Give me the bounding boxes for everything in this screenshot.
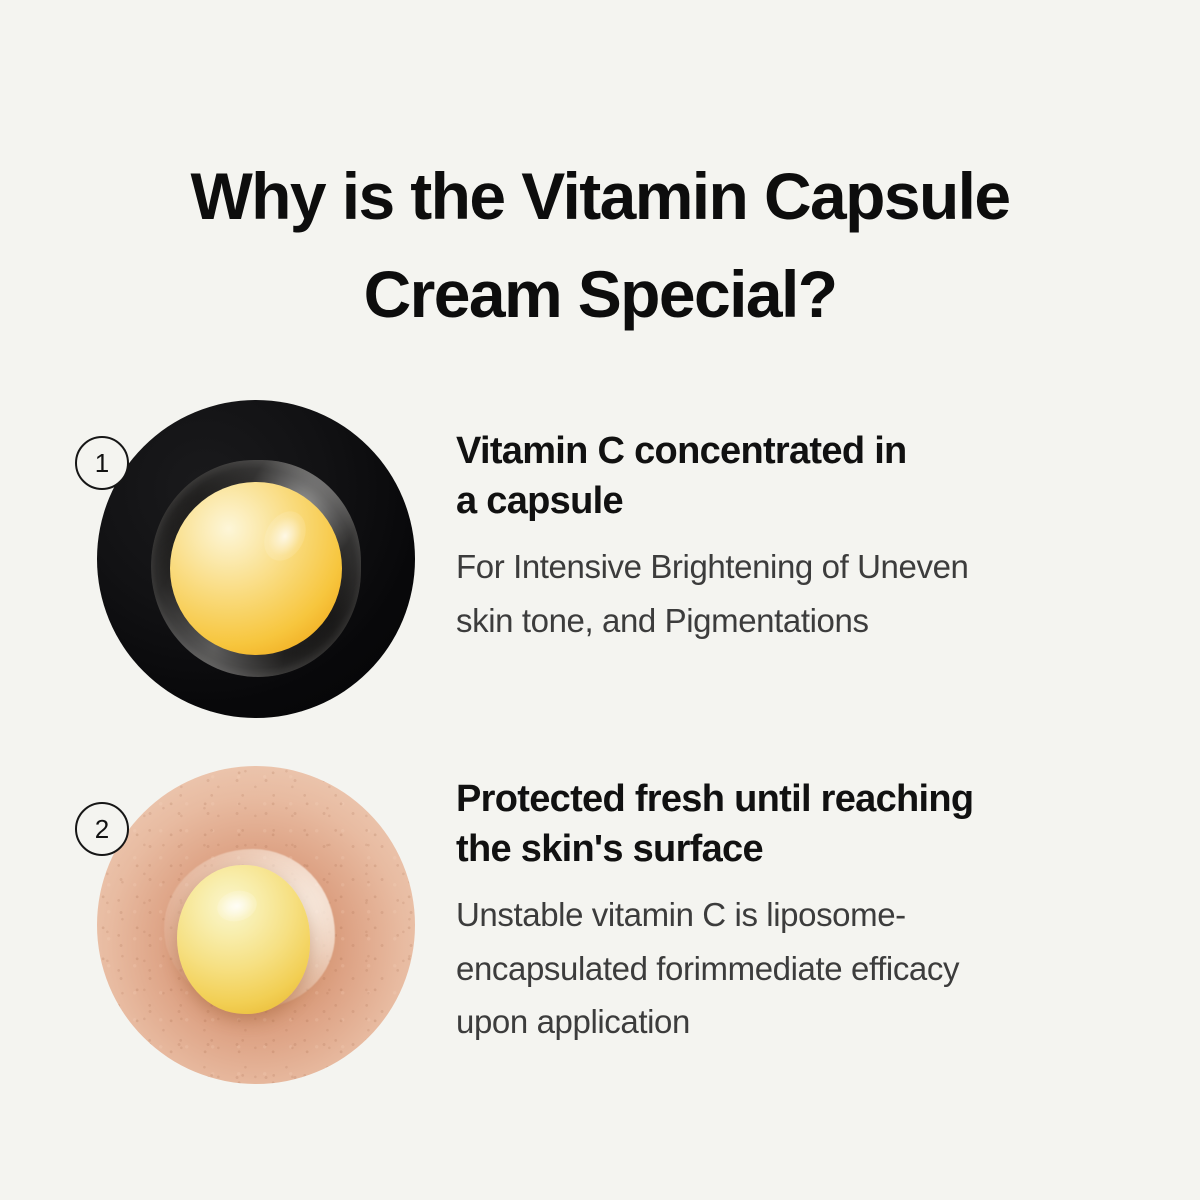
page-title-line-1: Why is the Vitamin Capsule [60, 148, 1140, 246]
page-title-line-2: Cream Special? [60, 246, 1140, 344]
feature-2-desc-line-2: encapsulated forimmediate efficacy [456, 950, 959, 987]
capsule-shell-graphic [151, 460, 361, 676]
feature-1-description: For Intensive Brightening of Uneven skin… [456, 540, 1136, 647]
vitamin-capsule-on-black-photo [97, 400, 415, 718]
feature-1-desc-line-1: For Intensive Brightening of Uneven [456, 548, 968, 585]
step-badge-2: 2 [75, 802, 129, 856]
feature-1-text: Vitamin C concentrated in a capsule For … [456, 426, 1136, 647]
feature-2-title-line-2: the skin's surface [456, 828, 763, 870]
feature-2-title-line-1: Protected fresh until reaching [456, 778, 973, 820]
feature-block-1: 1 Vitamin C concentrated in a capsule Fo… [0, 390, 1200, 730]
page-title: Why is the Vitamin Capsule Cream Special… [60, 148, 1140, 343]
feature-2-text: Protected fresh until reaching the skin'… [456, 774, 1136, 1049]
step-badge-2-number: 2 [95, 816, 109, 842]
feature-2-media: 2 [97, 766, 415, 1084]
capsule-bursting-on-skin-photo [97, 766, 415, 1084]
feature-block-2: 2 Protected fresh until reaching the ski… [0, 756, 1200, 1096]
step-badge-1: 1 [75, 436, 129, 490]
feature-1-title-line-1: Vitamin C concentrated in [456, 430, 907, 472]
feature-1-title-line-2: a capsule [456, 480, 623, 522]
vitamin-capsule-cream-infographic: { "theme": { "background": "#f4f4f0", "h… [0, 0, 1200, 1200]
feature-1-media: 1 [97, 400, 415, 718]
feature-2-desc-line-1: Unstable vitamin C is liposome- [456, 896, 906, 933]
feature-2-desc-line-3: upon application [456, 1003, 690, 1040]
feature-1-desc-line-2: skin tone, and Pigmentations [456, 602, 869, 639]
feature-2-title: Protected fresh until reaching the skin'… [456, 774, 1136, 874]
capsule-core-graphic [170, 482, 342, 655]
step-badge-1-number: 1 [95, 450, 109, 476]
feature-1-title: Vitamin C concentrated in a capsule [456, 426, 1136, 526]
burst-capsule-core-graphic [177, 865, 311, 1014]
feature-2-description: Unstable vitamin C is liposome- encapsul… [456, 888, 1136, 1048]
